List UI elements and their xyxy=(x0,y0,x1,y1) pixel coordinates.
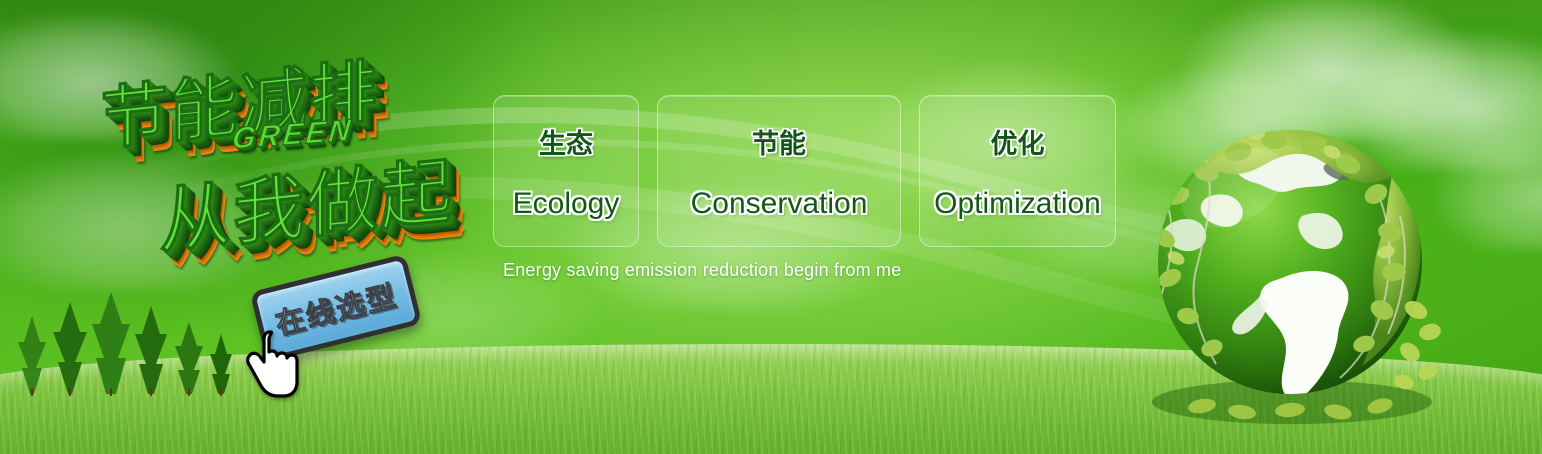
feature-card-en-label: Ecology xyxy=(513,187,620,221)
tagline-text: Energy saving emission reduction begin f… xyxy=(503,260,901,281)
feature-card-list: 生态 Ecology 节能 Conservation 优化 Optimizati… xyxy=(493,95,1116,247)
feature-card-en-label: Optimization xyxy=(934,187,1101,221)
feature-card-zh-label: 生态 xyxy=(539,122,593,161)
feature-card-optimization[interactable]: 优化 Optimization xyxy=(919,95,1116,247)
pointing-hand-cursor-icon xyxy=(240,328,302,400)
feature-card-ecology[interactable]: 生态 Ecology xyxy=(493,95,639,247)
ivy-covered-globe-icon xyxy=(1142,120,1442,430)
feature-card-en-label: Conservation xyxy=(691,187,868,221)
feature-card-zh-label: 节能 xyxy=(752,122,806,161)
hero-title-3d: 节能减排 GREEN 从我做起 xyxy=(85,16,508,296)
feature-card-conservation[interactable]: 节能 Conservation xyxy=(657,95,901,247)
feature-card-zh-label: 优化 xyxy=(991,122,1045,161)
eco-banner: 节能减排 GREEN 从我做起 在线选型 生态 Ecology 节能 Conse… xyxy=(0,0,1542,454)
